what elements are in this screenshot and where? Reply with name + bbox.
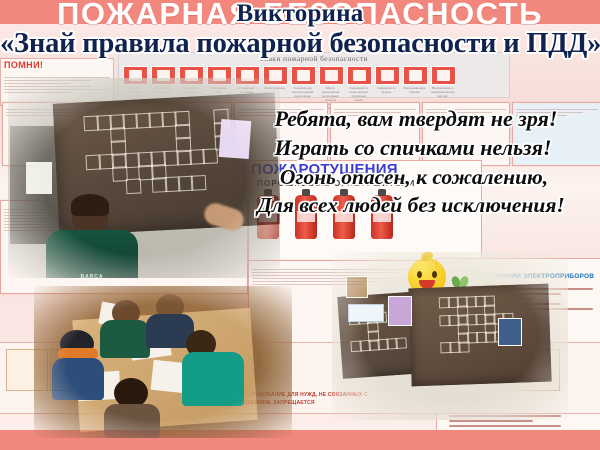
poem-line: Ребята, вам твердят не зря! [232, 104, 600, 133]
student-shirt: BARCA 7 [46, 230, 138, 278]
poem-line: Для всех людей без исключения! [222, 191, 600, 220]
chalkboard-right [408, 284, 551, 387]
smiley-eye-right [432, 271, 437, 278]
photo-chalkboards-crossword [332, 252, 568, 420]
fire-sign-icon [431, 66, 456, 85]
smiley-eye-left [417, 271, 422, 278]
fire-sign-icon [291, 66, 316, 85]
page-title: Викторина [0, 0, 600, 28]
fire-sign-icon [347, 66, 372, 85]
student-figure: BARCA 7 [44, 196, 140, 278]
child-shirt [52, 358, 104, 400]
slide-canvas: ПОМНИ! Знаки пожарной безопасности Кнопк… [0, 0, 600, 450]
photo-children-at-table [34, 286, 292, 438]
child-figure [52, 330, 104, 400]
poster-pomni-heading: ПОМНИ! [1, 59, 113, 71]
fire-sign-icon [403, 66, 428, 85]
page-subtitle: «Знай правила пожарной безопасности и ПД… [0, 28, 600, 60]
fire-sign-icon [319, 66, 344, 85]
child-shirt [100, 320, 150, 358]
child-figure [182, 330, 244, 406]
fire-sign-icon [375, 66, 400, 85]
poem-block: Ребята, вам твердят не зря! Играть со сп… [232, 104, 600, 220]
child-shirt [104, 404, 160, 438]
note-card-on-wall [26, 162, 52, 194]
jersey-name: BARCA [46, 274, 138, 278]
student-hair [71, 194, 109, 216]
picture-card [498, 318, 522, 346]
picture-card [346, 276, 368, 298]
note-card [348, 304, 384, 322]
child-shirt [182, 352, 244, 406]
child-figure [104, 378, 160, 438]
poem-line: Огонь опасен, к сожалению, [228, 163, 600, 192]
poem-line: Играть со спичками нельзя! [226, 133, 600, 162]
picture-card [388, 296, 412, 326]
child-figure [100, 296, 150, 354]
smiley-bow [420, 252, 434, 262]
